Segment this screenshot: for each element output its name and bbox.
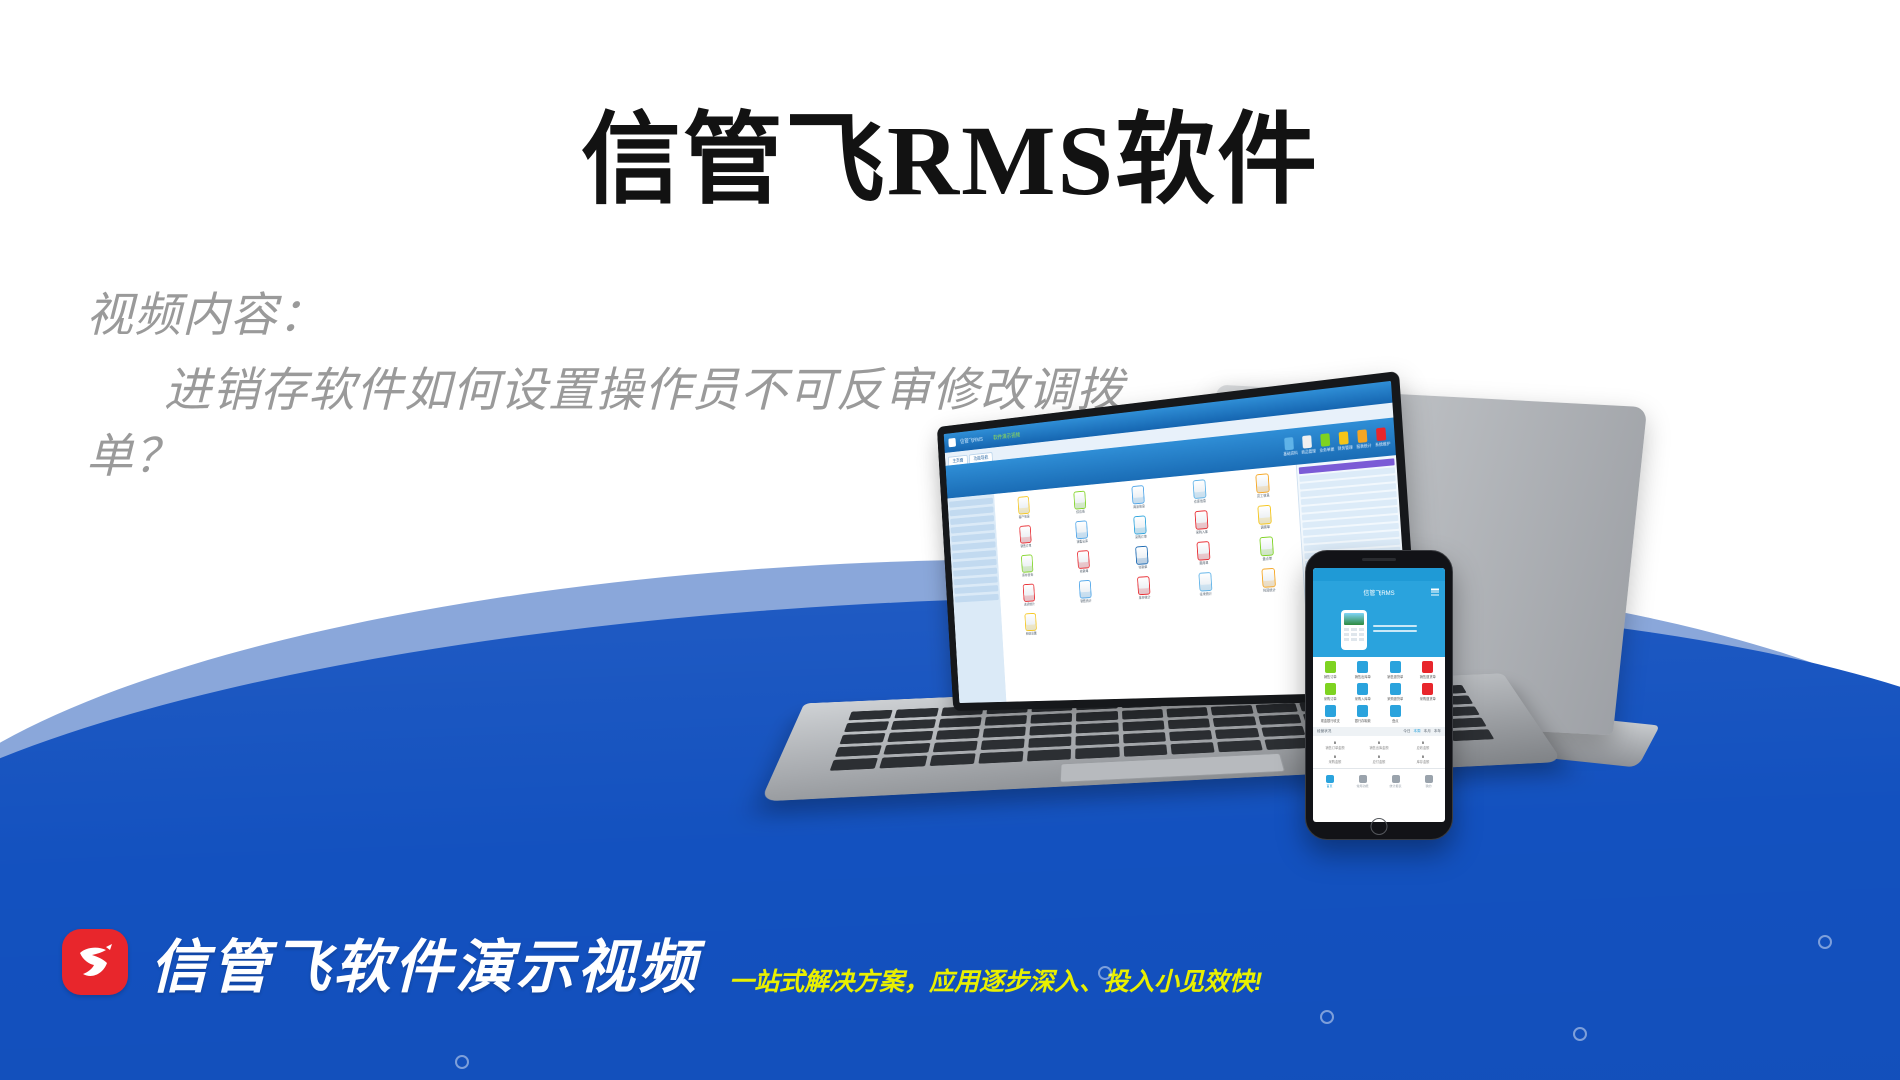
phone-filter-chip[interactable]: 本周 (1413, 729, 1420, 733)
phone-function-item[interactable]: 采购入库单 (1348, 683, 1379, 701)
phone-stat-cell: 0采购金额 (1315, 754, 1355, 764)
ribbon-button[interactable]: 商品管理 (1300, 435, 1313, 456)
app-tile[interactable]: 收款单 (1056, 548, 1112, 575)
content-lead-label: 视频内容： (86, 282, 1146, 349)
brand-name-label: 信管飞软件演示视频 (150, 920, 699, 1004)
phone-home-button-icon[interactable] (1371, 818, 1388, 835)
sidebar-item[interactable] (954, 576, 998, 585)
sidebar-item[interactable] (952, 541, 996, 551)
phone-tab-home[interactable]: 首页 (1313, 775, 1346, 788)
sidebar-item[interactable] (955, 594, 999, 603)
decor-dot (1573, 1027, 1587, 1041)
phone-banner (1313, 604, 1445, 657)
app-tile[interactable]: 客户信息 (997, 494, 1051, 522)
decor-dot (455, 1055, 469, 1069)
sidebar-item[interactable] (953, 567, 997, 576)
phone-stat-cell: 0销售订单金额 (1315, 740, 1355, 750)
app-tile[interactable]: 调拨单 (1234, 503, 1297, 533)
app-tile-grid[interactable]: 客户信息供应商商品信息仓库信息员工信息销售订单销售出库采购订单采购入库调拨单库存… (994, 465, 1311, 702)
phone-stats-grid: 0销售订单金额0销售出库金额0应收金额0采购金额0应付金额0库存金额 (1313, 736, 1445, 768)
decor-dot (1818, 935, 1832, 949)
decor-dot (1098, 966, 1112, 980)
phone-function-item[interactable]: 现金银行收支 (1315, 705, 1346, 723)
phone-function-item[interactable]: 销售出库单 (1348, 661, 1379, 679)
app-tile[interactable]: 员工信息 (1232, 471, 1295, 501)
decor-dot (1320, 1010, 1334, 1024)
ribbon-button[interactable]: 报表统计 (1355, 429, 1368, 450)
app-tile[interactable]: 往来统计 (1175, 570, 1235, 598)
bird-logo-icon (62, 929, 128, 995)
app-tile[interactable]: 商品信息 (1110, 483, 1168, 512)
phone-function-item[interactable]: 银行存取款 (1348, 705, 1379, 723)
app-tile[interactable]: 采购入库 (1171, 508, 1231, 537)
phone-tab-user[interactable]: 我的 (1412, 775, 1445, 788)
app-tile[interactable]: 采购订单 (1112, 513, 1170, 541)
app-tile[interactable]: 盘点单 (1236, 534, 1299, 563)
phone-banner-text (1373, 625, 1417, 635)
app-tile[interactable]: 供应商 (1052, 488, 1108, 516)
phone-function-item[interactable]: 采购退货单 (1380, 683, 1411, 701)
devices-illustration: 信管飞RMS 软件演示视频 主页面 功能导航 基础资料商品管理业务单据财务管理报… (860, 370, 1900, 950)
app-tile[interactable]: 费用单 (1173, 539, 1233, 568)
phone-tab-grid[interactable]: 常用功能 (1346, 775, 1379, 788)
app-title-label: 信管飞RMS (960, 435, 983, 445)
phone-speaker-icon (1362, 558, 1396, 561)
phone-tabbar[interactable]: 首页常用功能统计报表我的 (1313, 768, 1445, 794)
phone-app-title: 信管飞RMS (1363, 588, 1394, 597)
phone-function-item[interactable]: 销售退货单 (1413, 661, 1444, 679)
phone-filter-chip[interactable]: 本月 (1424, 729, 1431, 733)
ribbon-button[interactable]: 财务管理 (1337, 431, 1350, 452)
user-icon (1425, 775, 1433, 783)
phone-screen: 信管飞RMS 销售订单销售出库单销售退货单销售退货单采购订单采购入库单采购退货单… (1313, 568, 1445, 822)
phone-filter-chip[interactable]: 今日 (1403, 729, 1410, 733)
phone-section-filters[interactable]: 今日本周本月本年 (1400, 729, 1441, 734)
app-tile[interactable]: 库存统计 (1115, 574, 1173, 601)
phone-tab-chart[interactable]: 统计报表 (1379, 775, 1412, 788)
page-title: 信管飞RMS软件 (0, 78, 1900, 223)
app-tile[interactable]: 销售统计 (1058, 578, 1114, 605)
app-tile[interactable]: 销售出库 (1054, 518, 1110, 546)
hamburger-menu-icon[interactable] (1431, 589, 1439, 596)
phone-app-header: 信管飞RMS (1313, 581, 1445, 604)
phone-section-title: 经营状况 (1317, 729, 1331, 734)
app-tile[interactable]: 销售订单 (999, 523, 1053, 550)
app-logo-icon (948, 438, 956, 447)
phone-stat-cell: 0应付金额 (1359, 754, 1399, 764)
footer-brand-bar: 信管飞软件演示视频 一站式解决方案，应用逐步深入、投入小见效快! (62, 920, 1262, 1004)
app-tile[interactable]: 进货统计 (1002, 582, 1056, 608)
phone-stat-cell: 0销售出库金额 (1359, 740, 1399, 750)
phone-stat-cell: 0库存金额 (1403, 754, 1443, 764)
app-tile[interactable]: 仓库信息 (1170, 477, 1230, 507)
sidebar-item[interactable] (954, 585, 998, 594)
brand-tagline-label: 一站式解决方案，应用逐步深入、投入小见效快! (729, 962, 1262, 1004)
app-subtitle-label: 软件演示视频 (993, 431, 1020, 442)
ribbon-button[interactable]: 基础资料 (1282, 437, 1295, 457)
app-tile[interactable]: 库存查询 (1000, 553, 1054, 580)
app-tile[interactable]: 利润统计 (1238, 566, 1301, 595)
app-tile[interactable]: 付款单 (1114, 544, 1172, 572)
phone-function-item[interactable]: 采购订单 (1315, 683, 1346, 701)
phone-preview-icon (1341, 610, 1367, 650)
slide-canvas: 信管飞RMS软件 视频内容： 进销存软件如何设置操作员不可反审修改调拨单？ (0, 0, 1900, 1080)
app-tile[interactable]: 系统设置 (1004, 612, 1058, 638)
sidebar-item[interactable] (953, 559, 997, 568)
phone-function-item[interactable]: 销售订单 (1315, 661, 1346, 679)
grid-icon (1359, 775, 1367, 783)
phone-statusbar (1313, 568, 1445, 581)
ribbon-button[interactable]: 系统维护 (1374, 427, 1388, 448)
chart-icon (1392, 775, 1400, 783)
phone-function-item[interactable]: 采购退货单 (1413, 683, 1444, 701)
phone-function-item[interactable]: 盘点 (1380, 705, 1411, 723)
home-icon (1326, 775, 1334, 783)
smartphone: 信管飞RMS 销售订单销售出库单销售退货单销售退货单采购订单采购入库单采购退货单… (1305, 550, 1453, 840)
sidebar-item[interactable] (951, 524, 995, 534)
ribbon-button[interactable]: 业务单据 (1318, 433, 1331, 454)
phone-section-header: 经营状况 今日本周本月本年 (1313, 727, 1445, 736)
phone-filter-chip[interactable]: 本年 (1434, 729, 1441, 733)
sidebar-item[interactable] (951, 532, 995, 542)
phone-function-item[interactable]: 销售退货单 (1380, 661, 1411, 679)
phone-stat-cell: 0应收金额 (1403, 740, 1443, 750)
sidebar-item[interactable] (952, 550, 996, 559)
phone-function-grid[interactable]: 销售订单销售出库单销售退货单销售退货单采购订单采购入库单采购退货单采购退货单现金… (1313, 657, 1445, 727)
